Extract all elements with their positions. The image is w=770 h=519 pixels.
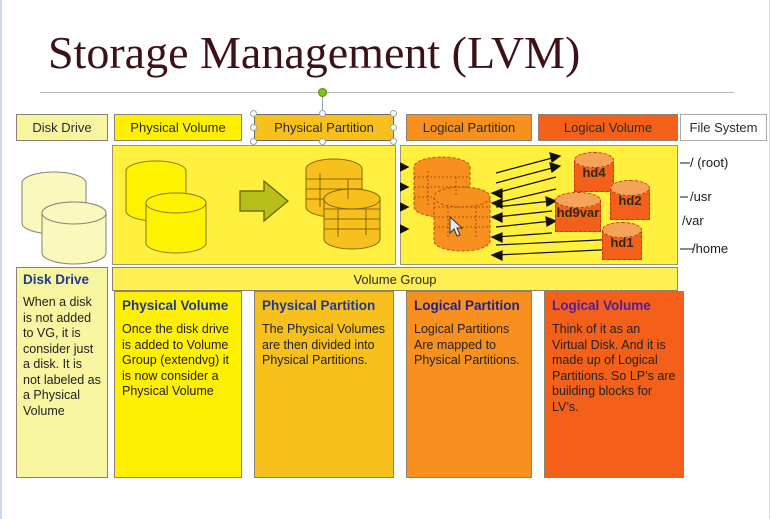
selection-handle-bottom-left[interactable] (250, 138, 257, 145)
legend-label: Disk Drive (32, 120, 91, 135)
legend-item-physical-partition[interactable]: Physical Partition (254, 114, 394, 141)
legend-label: Logical Partition (423, 120, 516, 135)
card-body: Logical Partitions Are mapped to Physica… (414, 322, 524, 369)
card-body: When a disk is not added to VG, it is co… (23, 295, 101, 419)
selection-handle-middle-right[interactable] (390, 124, 397, 131)
card-body: Once the disk drive is added to Volume G… (122, 322, 234, 400)
selection-handle-top-center[interactable] (319, 110, 326, 117)
logical-volume-hd2: hd2 (610, 180, 650, 220)
card-title: Logical Partition (414, 298, 524, 313)
logical-volume-name: hd9var (555, 205, 601, 220)
card-logical-volume[interactable]: Logical Volume Think of it as an Virtual… (544, 291, 684, 478)
selection-handle-middle-left[interactable] (250, 124, 257, 131)
filesystem-label-var: /var (682, 213, 704, 228)
selection-handle-bottom-right[interactable] (390, 138, 397, 145)
logical-volume-hd4: hd4 (574, 152, 614, 192)
disk-drive-graphic (12, 145, 112, 265)
legend-item-file-system[interactable]: File System (680, 114, 767, 141)
selection-handle-top-left[interactable] (250, 110, 257, 117)
logical-volume-name: hd4 (574, 165, 614, 180)
card-title: Disk Drive (23, 272, 101, 287)
volume-group-bar: Volume Group (112, 267, 678, 291)
page-title: Storage Management (LVM) (48, 26, 648, 80)
logical-volume-hd1: hd1 (602, 222, 642, 260)
logical-volume-name: hd2 (610, 193, 650, 208)
legend-label: Logical Volume (564, 120, 652, 135)
slide-canvas: Storage Management (LVM) Disk Drive Phys… (0, 0, 770, 519)
mouse-cursor (448, 216, 464, 238)
filesystem-label-root: / (root) (690, 155, 728, 170)
card-physical-volume[interactable]: Physical Volume Once the disk drive is a… (114, 291, 242, 478)
card-title: Physical Partition (262, 298, 386, 313)
selection-handle-top-right[interactable] (390, 110, 397, 117)
legend-item-logical-partition[interactable]: Logical Partition (406, 114, 532, 141)
logical-volume-name: hd1 (602, 235, 642, 250)
card-physical-partition[interactable]: Physical Partition The Physical Volumes … (254, 291, 394, 478)
physical-volume-graphic (112, 145, 396, 265)
card-title: Logical Volume (552, 298, 676, 313)
title-divider (40, 92, 734, 93)
selection-handle-bottom-center[interactable] (319, 138, 326, 145)
filesystem-label-usr: /usr (690, 189, 712, 204)
legend-item-disk-drive[interactable]: Disk Drive (16, 114, 108, 141)
legend-label: File System (690, 120, 758, 135)
card-body: The Physical Volumes are then divided in… (262, 322, 386, 369)
card-body: Think of it as an Virtual Disk. And it i… (552, 322, 676, 415)
logical-volume-hd9var: hd9var (555, 192, 601, 232)
volume-group-label: Volume Group (353, 272, 436, 287)
legend-item-physical-volume[interactable]: Physical Volume (114, 114, 242, 141)
card-disk-drive[interactable]: Disk Drive When a disk is not added to V… (16, 267, 108, 478)
legend-label: Physical Partition (274, 120, 374, 135)
card-logical-partition[interactable]: Logical Partition Logical Partitions Are… (406, 291, 532, 478)
rotation-handle[interactable] (318, 88, 327, 97)
legend-label: Physical Volume (130, 120, 225, 135)
card-title: Physical Volume (122, 298, 234, 313)
filesystem-label-home: /home (692, 241, 728, 256)
legend-item-logical-volume[interactable]: Logical Volume (538, 114, 678, 141)
